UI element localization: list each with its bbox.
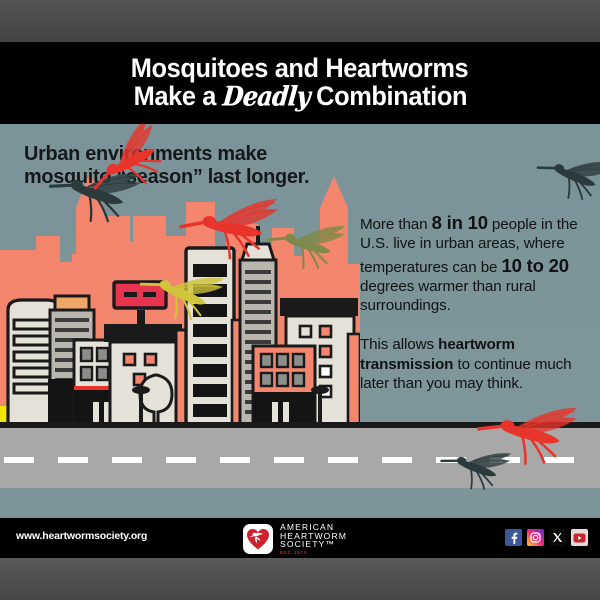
paragraph-urban-statistics: More than 8 in 10 people in the U.S. liv…: [360, 211, 588, 315]
title-prefix: Make a: [133, 83, 222, 111]
facebook-icon[interactable]: [505, 529, 522, 546]
statistics-text-column: More than 8 in 10 people in the U.S. liv…: [360, 211, 588, 393]
building-striped-highrise: [186, 248, 234, 424]
road-illustration: [0, 422, 600, 518]
poster-footer: www.heartwormsociety.org AMERICAN HEARTW…: [0, 518, 600, 558]
logo-line-3: SOCIETY™: [280, 540, 347, 549]
youtube-icon[interactable]: [571, 529, 588, 546]
x-twitter-icon[interactable]: [549, 529, 566, 546]
heartworm-heart-icon: [243, 524, 273, 554]
subheading-line-2: mosquito “season” last longer.: [24, 165, 354, 188]
title-emphasis-deadly: Deadly: [221, 83, 310, 111]
top-matte-border: [0, 0, 600, 42]
title-suffix: Combination: [309, 83, 467, 111]
poster-title-line-2: Make a Deadly Combination: [133, 83, 466, 111]
instagram-icon[interactable]: [527, 529, 544, 546]
building-coral-edge-right: [348, 334, 360, 424]
p1-segment-1: More than: [360, 216, 432, 233]
logo-established: EST. 1974: [280, 551, 347, 556]
bottom-matte-border: [0, 558, 600, 600]
website-url[interactable]: www.heartwormsociety.org: [16, 530, 147, 542]
paragraph-transmission: This allows heartworm transmission to co…: [360, 335, 588, 393]
stat-10-to-20: 10 to 20: [502, 255, 569, 276]
social-media-links: [505, 529, 588, 546]
organization-logo[interactable]: AMERICAN HEARTWORM SOCIETY™ EST. 1974: [243, 523, 347, 555]
infographic-poster: Mosquitoes and Heartworms Make a Deadly …: [0, 0, 600, 600]
mosquito-dark-top-right: [530, 137, 600, 210]
poster-title-line-1: Mosquitoes and Heartworms: [131, 55, 469, 83]
organization-name: AMERICAN HEARTWORM SOCIETY™ EST. 1974: [280, 523, 347, 555]
poster-main-panel: Urban environments make mosquito “season…: [0, 124, 600, 518]
subheading-line-1: Urban environments make: [24, 142, 354, 165]
rooftop-billboard: [114, 282, 166, 308]
poster-header: Mosquitoes and Heartworms Make a Deadly …: [0, 42, 600, 124]
subheading: Urban environments make mosquito “season…: [24, 142, 354, 189]
p2-segment-1: This allows: [360, 336, 438, 353]
stat-8-in-10: 8 in 10: [432, 212, 488, 233]
p1-segment-3: degrees warmer than rural surroundings.: [360, 278, 536, 314]
